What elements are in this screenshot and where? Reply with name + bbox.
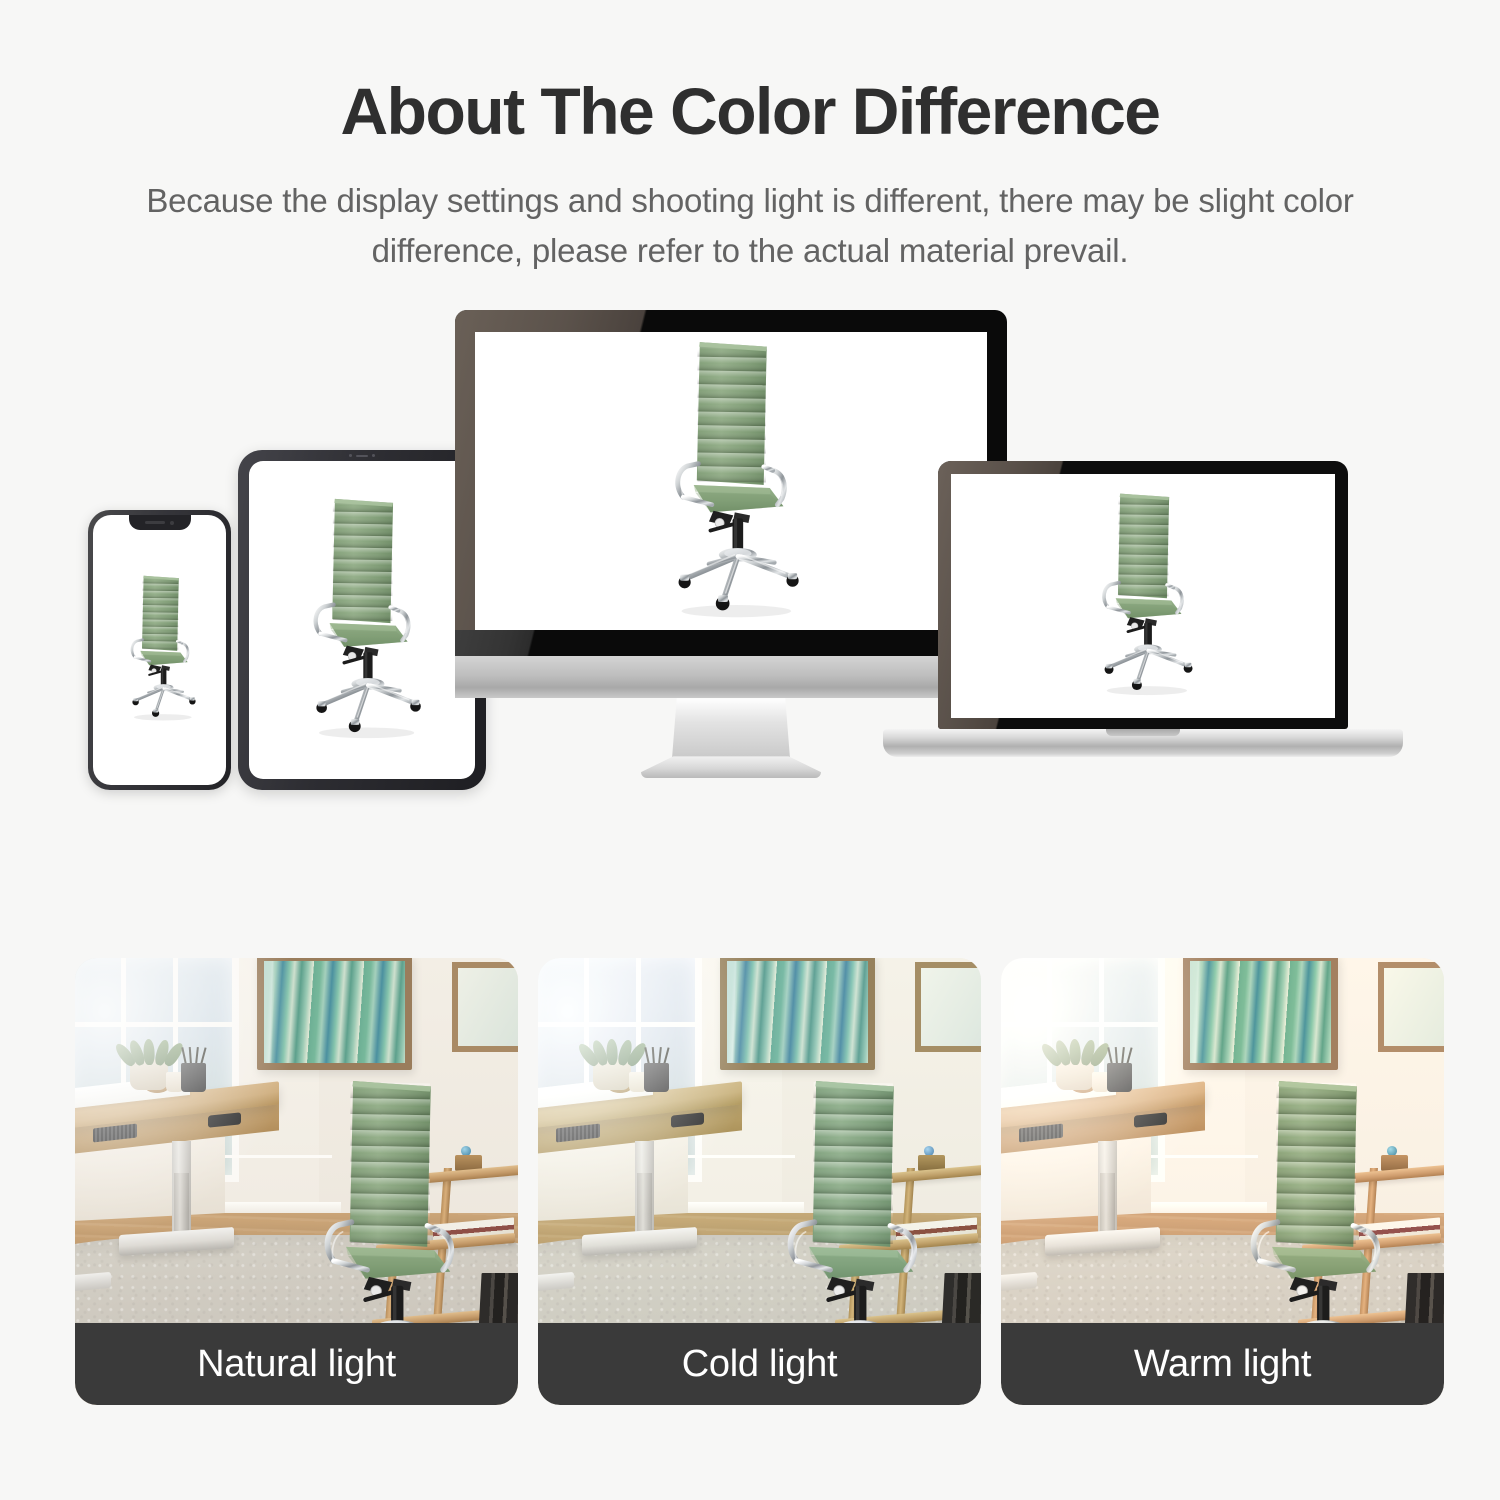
card-label: Warm light — [1001, 1323, 1444, 1405]
scene-card-cold-light[interactable]: Cold light — [538, 958, 981, 1405]
chair-image-phone — [114, 573, 206, 728]
page-title: About The Color Difference — [0, 78, 1500, 144]
laptop-base — [883, 729, 1403, 757]
phone-camera-icon — [170, 521, 174, 525]
plant-leaves-icon — [589, 1030, 638, 1066]
device-phone — [88, 510, 231, 790]
monitor-chin — [455, 630, 1007, 656]
device-tablet — [238, 450, 486, 790]
wall-art-secondary — [1378, 962, 1444, 1051]
wall-art — [720, 958, 875, 1070]
device-laptop — [938, 461, 1348, 757]
desk-leg-lower — [174, 1173, 189, 1231]
wall-art-secondary — [452, 962, 518, 1051]
plant-leaves-icon — [1052, 1030, 1101, 1066]
tablet-screen — [249, 461, 475, 779]
wall-art-secondary — [915, 962, 981, 1051]
lighting-comparison-row: Natural light — [75, 958, 1444, 1405]
header: About The Color Difference Because the d… — [0, 0, 1500, 276]
card-label: Cold light — [538, 1323, 981, 1405]
laptop-bezel — [938, 461, 1348, 729]
monitor-screen — [475, 332, 987, 630]
tablet-camera-icon — [349, 454, 375, 457]
pencil-cup — [181, 1063, 206, 1092]
phone-screen — [93, 515, 226, 785]
chair-image-monitor — [644, 336, 819, 626]
chair-image-laptop — [1079, 489, 1207, 703]
chair-image-tablet — [286, 494, 438, 747]
monitor-base-bar — [455, 656, 1007, 698]
scene-card-natural-light[interactable]: Natural light — [75, 958, 518, 1405]
wall-art — [257, 958, 412, 1070]
page-subtitle: Because the display settings and shootin… — [85, 176, 1415, 276]
plant-leaves-icon — [126, 1030, 175, 1066]
monitor-bezel — [455, 310, 1007, 630]
laptop-trackpad-notch — [1106, 729, 1180, 736]
device-monitor — [455, 310, 1007, 778]
laptop-screen — [951, 474, 1335, 718]
phone-notch — [129, 515, 191, 530]
phone-speaker-icon — [145, 521, 165, 524]
monitor-stand-foot — [641, 756, 821, 778]
wall-art — [1183, 958, 1338, 1070]
monitor-stand-neck — [672, 698, 790, 758]
scene-card-warm-light[interactable]: Warm light — [1001, 958, 1444, 1405]
card-label: Natural light — [75, 1323, 518, 1405]
device-mockup-group — [0, 298, 1500, 818]
